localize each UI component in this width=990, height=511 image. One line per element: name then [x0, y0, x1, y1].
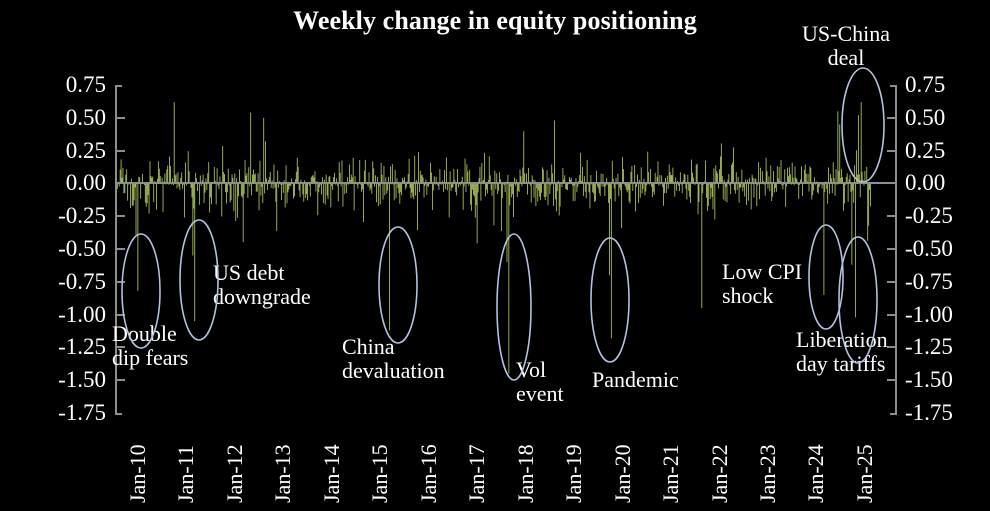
x-tick-label-3: Jan-13	[270, 444, 296, 503]
bar	[371, 183, 372, 193]
bar	[812, 183, 813, 195]
bar	[257, 183, 258, 191]
bar	[837, 111, 838, 183]
bar	[136, 183, 137, 235]
bar	[560, 183, 561, 206]
bar	[245, 160, 246, 184]
bar	[573, 183, 574, 201]
bar	[641, 167, 642, 183]
bar	[233, 183, 234, 211]
bar	[328, 183, 329, 199]
bar	[217, 168, 218, 183]
x-tick-label-8: Jan-18	[513, 444, 539, 503]
bar	[580, 153, 581, 184]
bar	[759, 183, 760, 199]
bar	[839, 124, 840, 183]
zero-line	[115, 182, 895, 184]
bar	[384, 183, 385, 195]
x-tick-label-15: Jan-25	[852, 444, 878, 503]
bar	[688, 183, 689, 190]
bar	[383, 183, 384, 199]
bar	[809, 166, 810, 183]
bar	[511, 183, 512, 197]
y-tick-left-1	[117, 117, 125, 119]
bar	[512, 183, 513, 194]
bar	[679, 183, 680, 191]
bar	[522, 168, 523, 184]
bar	[742, 183, 743, 191]
bar	[689, 183, 690, 196]
bar	[174, 102, 175, 183]
bar	[265, 141, 266, 183]
bar	[146, 183, 147, 206]
bar	[398, 183, 399, 193]
bar	[417, 183, 418, 230]
bar	[343, 183, 344, 206]
bar	[789, 167, 790, 183]
bar	[748, 183, 749, 200]
bar	[150, 161, 151, 183]
bar	[777, 166, 778, 183]
bar	[197, 183, 198, 191]
y-axis-cap-bottom-left	[115, 413, 122, 415]
bar	[557, 183, 558, 191]
bar	[744, 183, 745, 196]
bar	[409, 159, 410, 184]
bar	[124, 183, 125, 193]
bar	[199, 183, 200, 204]
annotation-label-1: US debt downgrade	[213, 261, 413, 309]
bar	[297, 158, 298, 184]
bar	[770, 165, 771, 183]
bar	[250, 113, 251, 184]
bar	[818, 183, 819, 193]
bar	[121, 159, 122, 183]
bar	[802, 183, 803, 195]
y-axis-cap-bottom-right	[890, 413, 897, 415]
bar	[599, 183, 600, 193]
bar	[699, 183, 700, 202]
bar	[756, 183, 757, 206]
bar	[741, 170, 742, 184]
bar	[549, 183, 550, 194]
bar	[539, 183, 540, 196]
bar	[628, 183, 629, 190]
bar	[810, 168, 811, 183]
bar	[731, 165, 732, 184]
bar	[145, 183, 146, 202]
bar	[310, 183, 311, 196]
y-tick-label-left-1: 0.50	[8, 106, 106, 129]
bar	[562, 168, 563, 183]
bar	[638, 183, 639, 202]
bar	[609, 183, 610, 275]
bar	[346, 183, 347, 193]
bar	[281, 183, 282, 200]
bar	[672, 168, 673, 184]
bar	[795, 167, 796, 184]
bar	[518, 183, 519, 191]
bar	[323, 183, 324, 203]
bar	[715, 165, 716, 183]
bar	[540, 183, 541, 200]
bar	[669, 164, 670, 183]
bar	[523, 131, 524, 183]
bar	[545, 183, 546, 200]
bar	[604, 183, 605, 196]
bar	[733, 147, 734, 183]
bar	[359, 160, 360, 183]
bar	[623, 169, 624, 183]
bar	[852, 183, 853, 190]
bar	[126, 169, 127, 183]
x-tick-label-5: Jan-15	[367, 444, 393, 503]
annotation-label-0: Double dip fears	[112, 322, 282, 370]
bar	[439, 169, 440, 183]
bar	[251, 183, 252, 195]
bar	[298, 167, 299, 184]
bar	[620, 183, 621, 190]
bar	[216, 183, 217, 204]
bar	[123, 183, 124, 193]
bar	[708, 183, 709, 206]
bar	[210, 183, 211, 197]
bar	[386, 183, 387, 193]
bar	[492, 183, 493, 195]
bar	[466, 164, 467, 183]
bar	[238, 183, 239, 196]
bar	[608, 183, 609, 203]
bar	[520, 170, 521, 184]
bar	[690, 183, 691, 203]
bar	[697, 164, 698, 184]
bar	[766, 158, 767, 184]
bar	[801, 166, 802, 183]
bar	[387, 183, 388, 190]
x-tick-label-10: Jan-20	[610, 444, 636, 503]
bar	[663, 183, 664, 205]
annotation-label-6: US-China deal	[786, 22, 906, 70]
bar	[824, 183, 825, 192]
bar	[721, 143, 722, 183]
bar	[285, 183, 286, 207]
bar	[192, 183, 193, 255]
bar	[274, 165, 275, 184]
bar	[567, 183, 568, 190]
bar	[746, 183, 747, 205]
bar	[829, 183, 830, 193]
bar	[534, 183, 535, 197]
bar	[652, 183, 653, 197]
x-tick-label-4: Jan-14	[319, 444, 345, 503]
x-tick-label-11: Jan-21	[658, 444, 684, 503]
bar	[344, 183, 345, 194]
bar	[415, 183, 416, 195]
bar	[866, 167, 867, 184]
y-tick-label-right-10: -1.75	[905, 401, 990, 424]
bar	[587, 160, 588, 184]
bar	[548, 183, 549, 205]
bar	[517, 183, 518, 197]
bar	[453, 169, 454, 184]
bar	[676, 183, 677, 190]
bar	[231, 183, 232, 200]
bar	[432, 183, 433, 210]
bar	[361, 183, 362, 191]
bar	[327, 183, 328, 195]
bar	[531, 183, 532, 202]
bar	[188, 151, 189, 183]
bar	[276, 183, 277, 231]
bar	[489, 156, 490, 183]
bar	[473, 183, 474, 194]
bar	[589, 183, 590, 192]
bar	[365, 160, 366, 184]
bar	[373, 168, 374, 183]
bar	[498, 183, 499, 190]
bar	[235, 183, 236, 221]
bar	[418, 152, 419, 183]
bar	[321, 183, 322, 194]
bar	[248, 167, 249, 183]
y-tick-label-right-6: -0.75	[905, 270, 990, 293]
bar	[170, 166, 171, 183]
bar	[647, 152, 648, 184]
bar	[228, 168, 229, 183]
bar	[730, 183, 731, 194]
bar	[502, 183, 503, 198]
bar	[243, 183, 244, 242]
bar	[735, 183, 736, 193]
bar	[836, 169, 837, 183]
bar	[664, 183, 665, 193]
bar	[727, 183, 728, 202]
bar	[622, 157, 623, 184]
bar	[262, 183, 263, 203]
y-tick-right-5	[887, 248, 895, 250]
bar	[758, 162, 759, 183]
bar	[378, 183, 379, 206]
bar	[306, 183, 307, 194]
bar	[299, 183, 300, 190]
bar	[645, 183, 646, 195]
bar	[256, 183, 257, 191]
bar	[185, 163, 186, 184]
bar	[318, 183, 319, 192]
bar	[509, 183, 510, 205]
bar	[698, 183, 699, 214]
bar	[843, 183, 844, 210]
bar	[798, 183, 799, 198]
bar	[751, 183, 752, 209]
bar	[507, 183, 508, 262]
y-tick-label-right-1: 0.50	[905, 106, 990, 129]
bar	[705, 161, 706, 184]
bar	[481, 163, 482, 183]
y-tick-label-left-10: -1.75	[8, 401, 106, 424]
bar	[576, 183, 577, 192]
bar	[264, 183, 265, 193]
bar	[433, 183, 434, 190]
bar	[575, 183, 576, 200]
bar	[446, 157, 447, 183]
y-tick-right-4	[887, 215, 895, 217]
y-tick-left-6	[117, 281, 125, 283]
bar	[465, 159, 466, 184]
bar	[658, 161, 659, 183]
bar	[376, 183, 377, 202]
bar	[610, 183, 611, 199]
bar	[476, 183, 477, 205]
x-tick-label-6: Jan-16	[416, 444, 442, 503]
bar	[469, 170, 470, 184]
bar	[760, 168, 761, 184]
y-tick-left-9	[117, 379, 125, 381]
bar	[480, 183, 481, 200]
bar	[853, 183, 854, 202]
bar	[419, 183, 420, 192]
bar	[193, 183, 194, 208]
bar	[349, 165, 350, 184]
bar	[645, 183, 646, 191]
bar	[211, 183, 212, 204]
bar	[592, 183, 593, 192]
bar	[809, 183, 810, 191]
bar	[159, 169, 160, 184]
bar	[828, 167, 829, 183]
bar	[781, 160, 782, 183]
bar	[167, 166, 168, 184]
bar	[330, 183, 331, 207]
bar	[208, 162, 209, 183]
y-tick-right-7	[887, 314, 895, 316]
y-axis-cap-top-right	[890, 85, 897, 87]
bar	[719, 169, 720, 183]
bar	[631, 166, 632, 184]
bar	[194, 183, 195, 321]
x-tick-label-12: Jan-22	[707, 444, 733, 503]
bar	[149, 183, 150, 213]
bar	[424, 183, 425, 197]
bar	[471, 183, 472, 210]
bar	[169, 157, 170, 184]
bar	[691, 160, 692, 184]
bar	[413, 183, 414, 199]
bar	[363, 183, 364, 222]
bar	[120, 169, 121, 183]
bar	[305, 183, 306, 197]
bar	[833, 162, 834, 183]
bar	[395, 170, 396, 184]
bar	[140, 183, 141, 198]
bar	[447, 183, 448, 190]
bar	[627, 183, 628, 192]
bar	[315, 183, 316, 191]
bar	[813, 183, 814, 190]
bar	[621, 183, 622, 228]
bar	[544, 183, 545, 197]
bar	[586, 183, 587, 198]
bar	[707, 183, 708, 210]
annotation-label-5: Low CPI shock	[722, 260, 872, 308]
bar	[640, 183, 641, 197]
bar	[600, 183, 601, 196]
bar	[870, 183, 871, 206]
bar	[650, 169, 651, 184]
bar	[527, 183, 528, 194]
x-tick-label-9: Jan-19	[561, 444, 587, 503]
bar	[754, 183, 755, 197]
bar	[612, 161, 613, 184]
x-tick-label-2: Jan-12	[222, 444, 248, 503]
bar	[411, 183, 412, 198]
bar	[682, 183, 683, 193]
y-tick-right-6	[887, 281, 895, 283]
y-tick-label-right-7: -1.00	[905, 303, 990, 326]
bar	[860, 183, 861, 197]
bar	[443, 183, 444, 192]
y-tick-label-right-3: 0.00	[905, 171, 990, 194]
bar	[230, 183, 231, 202]
bar	[779, 167, 780, 183]
bar	[247, 183, 248, 197]
bar	[555, 183, 556, 199]
bar	[456, 183, 457, 195]
bar	[554, 120, 555, 183]
bar	[713, 168, 714, 183]
bar	[400, 183, 401, 192]
bar	[538, 183, 539, 190]
bar	[634, 165, 635, 183]
bar	[772, 183, 773, 196]
y-tick-label-right-4: -0.25	[905, 204, 990, 227]
bar	[505, 183, 506, 192]
bar	[307, 183, 308, 200]
bar	[769, 183, 770, 191]
bar	[275, 183, 276, 201]
bar	[494, 183, 495, 225]
bar	[593, 183, 594, 193]
x-tick-label-14: Jan-24	[803, 444, 829, 503]
bar	[214, 167, 215, 183]
bar	[205, 183, 206, 192]
bar	[463, 183, 464, 209]
bar	[487, 183, 488, 193]
bar	[844, 183, 845, 203]
bar	[477, 183, 478, 243]
bar	[702, 183, 703, 193]
y-tick-label-left-3: 0.00	[8, 171, 106, 194]
bar	[595, 183, 596, 201]
bar	[528, 168, 529, 184]
bar	[430, 163, 431, 184]
bar	[513, 183, 514, 217]
bar	[241, 183, 242, 195]
bar	[475, 183, 476, 217]
bar	[585, 183, 586, 191]
bar	[353, 158, 354, 184]
bar	[244, 183, 245, 194]
bar	[288, 183, 289, 192]
bar	[259, 183, 260, 210]
bar	[455, 183, 456, 192]
y-tick-left-2	[117, 150, 125, 152]
bar	[854, 165, 855, 183]
bar	[850, 183, 851, 192]
chart-root: Weekly change in equity positioning 0.75…	[0, 0, 990, 511]
bar	[478, 183, 479, 192]
x-tick-label-1: Jan-11	[173, 445, 199, 503]
